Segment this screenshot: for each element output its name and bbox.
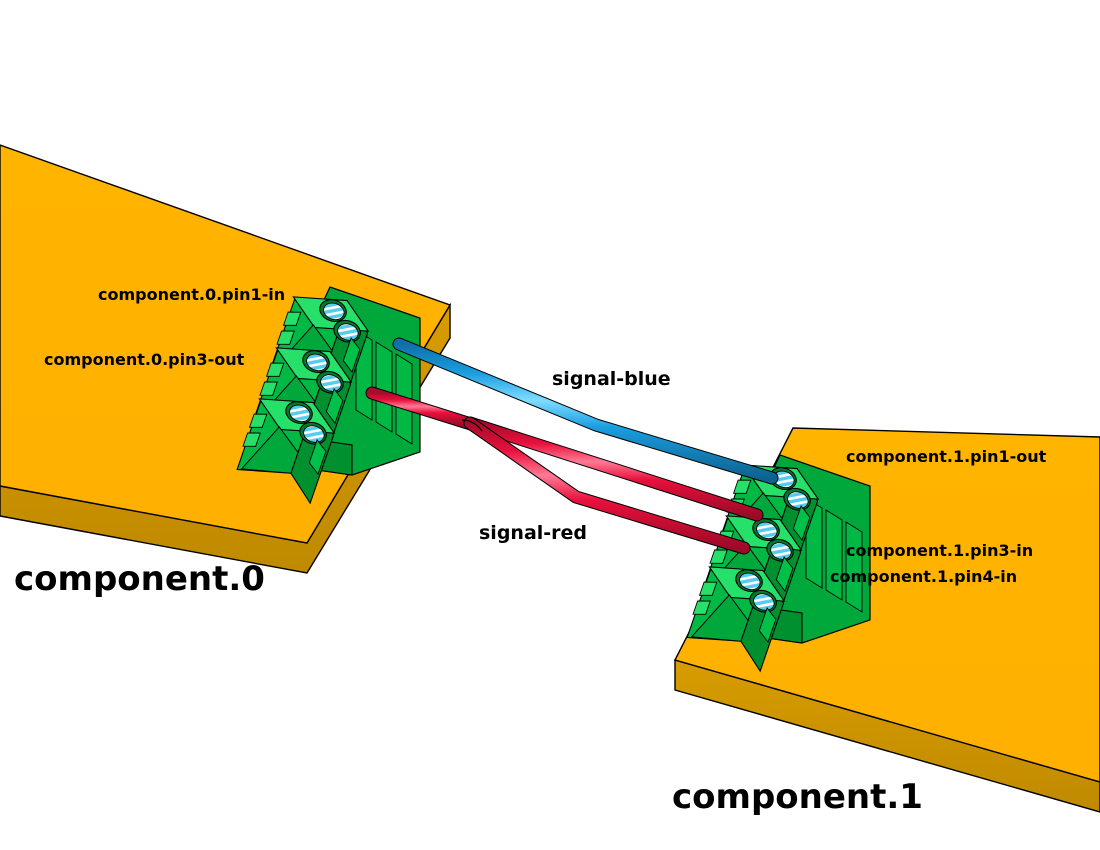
component-1-title: component.1 [672,777,923,817]
label-component-1-pin3-in: component.1.pin3-in [846,541,1033,560]
wiring-diagram-canvas: component.0.pin1-in component.0.pin3-out… [0,0,1100,850]
label-component-0-pin1-in: component.0.pin1-in [98,285,285,304]
label-component-0-pin3-out: component.0.pin3-out [44,350,245,369]
component-0-title: component.0 [14,559,265,599]
label-component-1-pin1-out: component.1.pin1-out [846,447,1047,466]
component-1-group[interactable]: component.1.pin1-out component.1.pin3-in… [672,428,1100,817]
label-signal-red: signal-red [479,522,587,544]
label-component-1-pin4-in: component.1.pin4-in [830,567,1017,586]
label-signal-blue: signal-blue [552,368,671,390]
component-0-group[interactable]: component.0.pin1-in component.0.pin3-out… [0,145,450,599]
